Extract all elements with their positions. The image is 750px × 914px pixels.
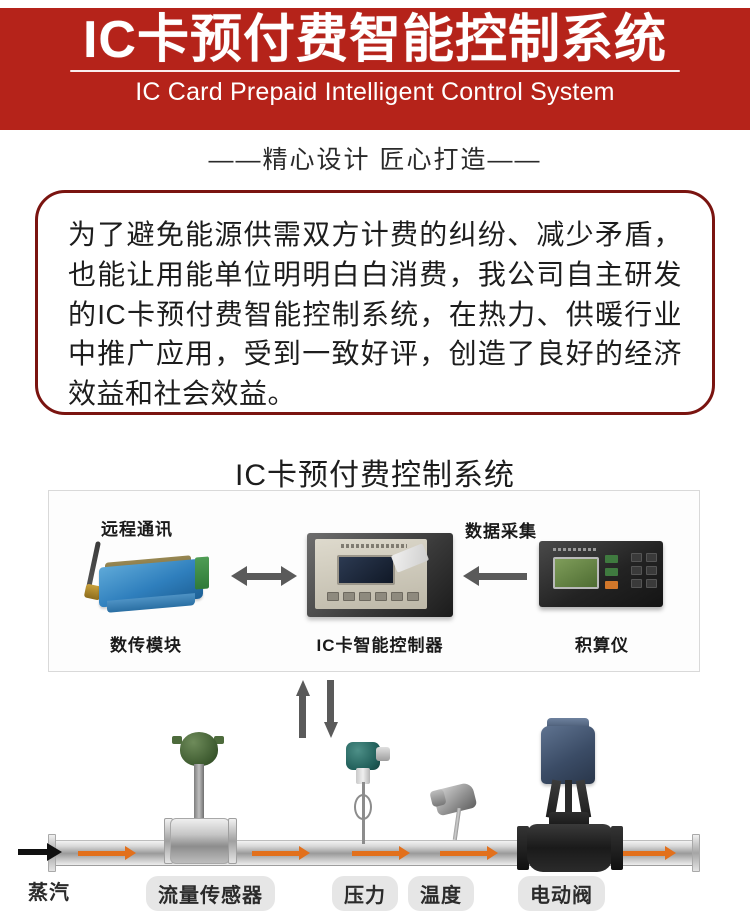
page-title: IC卡预付费智能控制系统 xyxy=(83,12,667,68)
pipeline-label-steam: 蒸汽 xyxy=(28,876,70,905)
ic-card-controller-image xyxy=(307,533,453,621)
pipe-flange-right xyxy=(692,834,700,872)
arrow-head-right xyxy=(299,846,310,860)
arrow-head-right-icon xyxy=(281,566,297,586)
link-arrow-integrator-controller xyxy=(463,569,527,583)
arrow-shaft xyxy=(78,851,125,856)
flow-direction-arrow-icon xyxy=(78,848,136,858)
dtu-module-image xyxy=(71,539,221,617)
diagram-title: IC卡预付费控制系统 xyxy=(0,450,750,494)
integrator-housing xyxy=(539,541,663,607)
transmitter-head xyxy=(346,742,380,770)
page-subtitle: IC Card Prepaid Intelligent Control Syst… xyxy=(135,78,614,107)
integrator-indicator-leds xyxy=(605,555,618,594)
thermowell-stem xyxy=(453,808,461,840)
flow-sensor-image xyxy=(150,720,246,868)
arrow-head-right xyxy=(47,843,62,861)
keypad-key xyxy=(646,579,657,588)
arrow-shaft xyxy=(247,573,281,580)
arrow-shaft xyxy=(252,851,299,856)
pipeline-label-electric-valve: 电动阀 xyxy=(518,876,605,911)
keypad-key xyxy=(631,553,642,562)
keypad-key xyxy=(646,566,657,575)
pipeline-label-pressure: 压力 xyxy=(332,876,398,911)
keypad-key xyxy=(359,592,371,601)
sensor-flange-right xyxy=(228,818,237,864)
arrow-head-right xyxy=(399,846,410,860)
led-indicator xyxy=(605,568,618,576)
arrow-head-left-icon xyxy=(231,566,247,586)
modem-terminal-block xyxy=(195,556,209,589)
pipeline-diagram: 蒸汽 流量传感器 压力 温度 电动阀 xyxy=(0,700,750,914)
controller-keypad xyxy=(327,592,419,601)
led-indicator xyxy=(605,555,618,563)
valve-flange-right xyxy=(611,826,623,870)
arrow-shaft xyxy=(18,849,47,855)
keypad-key xyxy=(631,579,642,588)
keypad-key xyxy=(343,592,355,601)
led-indicator-amber xyxy=(605,581,618,589)
arrow-shaft xyxy=(479,573,527,580)
keypad-key xyxy=(646,553,657,562)
keypad-key xyxy=(327,592,339,601)
flow-integrator-image xyxy=(533,535,671,621)
controller-brand-text xyxy=(341,544,407,548)
pipeline-label-flow-sensor: 流量传感器 xyxy=(146,876,275,911)
valve-body xyxy=(527,824,613,872)
sensor-head xyxy=(180,732,218,766)
integrator-keypad xyxy=(631,553,657,588)
node-label-data-acquisition: 数据采集 xyxy=(465,517,537,542)
sensor-stem xyxy=(194,764,204,822)
keypad-key xyxy=(631,566,642,575)
siphon-loop xyxy=(354,794,372,820)
sensor-body xyxy=(170,818,230,864)
integrator-lcd-screen xyxy=(553,557,599,589)
arrow-head-right xyxy=(125,846,136,860)
temperature-sensor-image xyxy=(425,786,495,870)
valve-actuator xyxy=(541,726,595,784)
system-topology-panel: 远程通讯 数传模块 xyxy=(48,490,700,672)
node-caption-dtu: 数传模块 xyxy=(69,631,223,656)
link-arrow-dtu-controller xyxy=(231,569,297,583)
node-caption-controller: IC卡智能控制器 xyxy=(287,631,473,656)
pressure-transmitter-image xyxy=(330,742,400,870)
flow-direction-arrow-icon xyxy=(252,848,310,858)
keypad-key xyxy=(391,592,403,601)
steam-inlet-arrow-icon xyxy=(18,844,62,860)
controller-faceplate xyxy=(315,539,427,609)
transmitter-cap xyxy=(376,747,390,761)
node-caption-integrator: 积算仪 xyxy=(535,631,669,656)
arrow-head-right xyxy=(665,846,676,860)
keypad-key xyxy=(407,592,419,601)
controller-lcd-screen xyxy=(337,555,395,585)
node-label-remote-comm: 远程通讯 xyxy=(101,515,173,540)
intro-paragraph: 为了避免能源供需双方计费的纠纷、减少矛盾，也能让用能单位明明白白消费，我公司自主… xyxy=(68,215,682,414)
promo-page: IC卡预付费智能控制系统 IC Card Prepaid Intelligent… xyxy=(0,0,750,914)
integrator-brand-text xyxy=(553,548,597,551)
electric-valve-image xyxy=(505,708,635,870)
tagline: ——精心设计 匠心打造—— xyxy=(0,140,750,176)
header-banner: IC卡预付费智能控制系统 IC Card Prepaid Intelligent… xyxy=(0,8,750,130)
title-underline xyxy=(70,70,680,72)
keypad-key xyxy=(375,592,387,601)
intro-textbox: 为了避免能源供需双方计费的纠纷、减少矛盾，也能让用能单位明明白白消费，我公司自主… xyxy=(35,190,715,415)
arrow-head-left-icon xyxy=(463,566,479,586)
pipeline-label-temperature: 温度 xyxy=(408,876,474,911)
transmitter-lower-stem xyxy=(362,818,365,844)
